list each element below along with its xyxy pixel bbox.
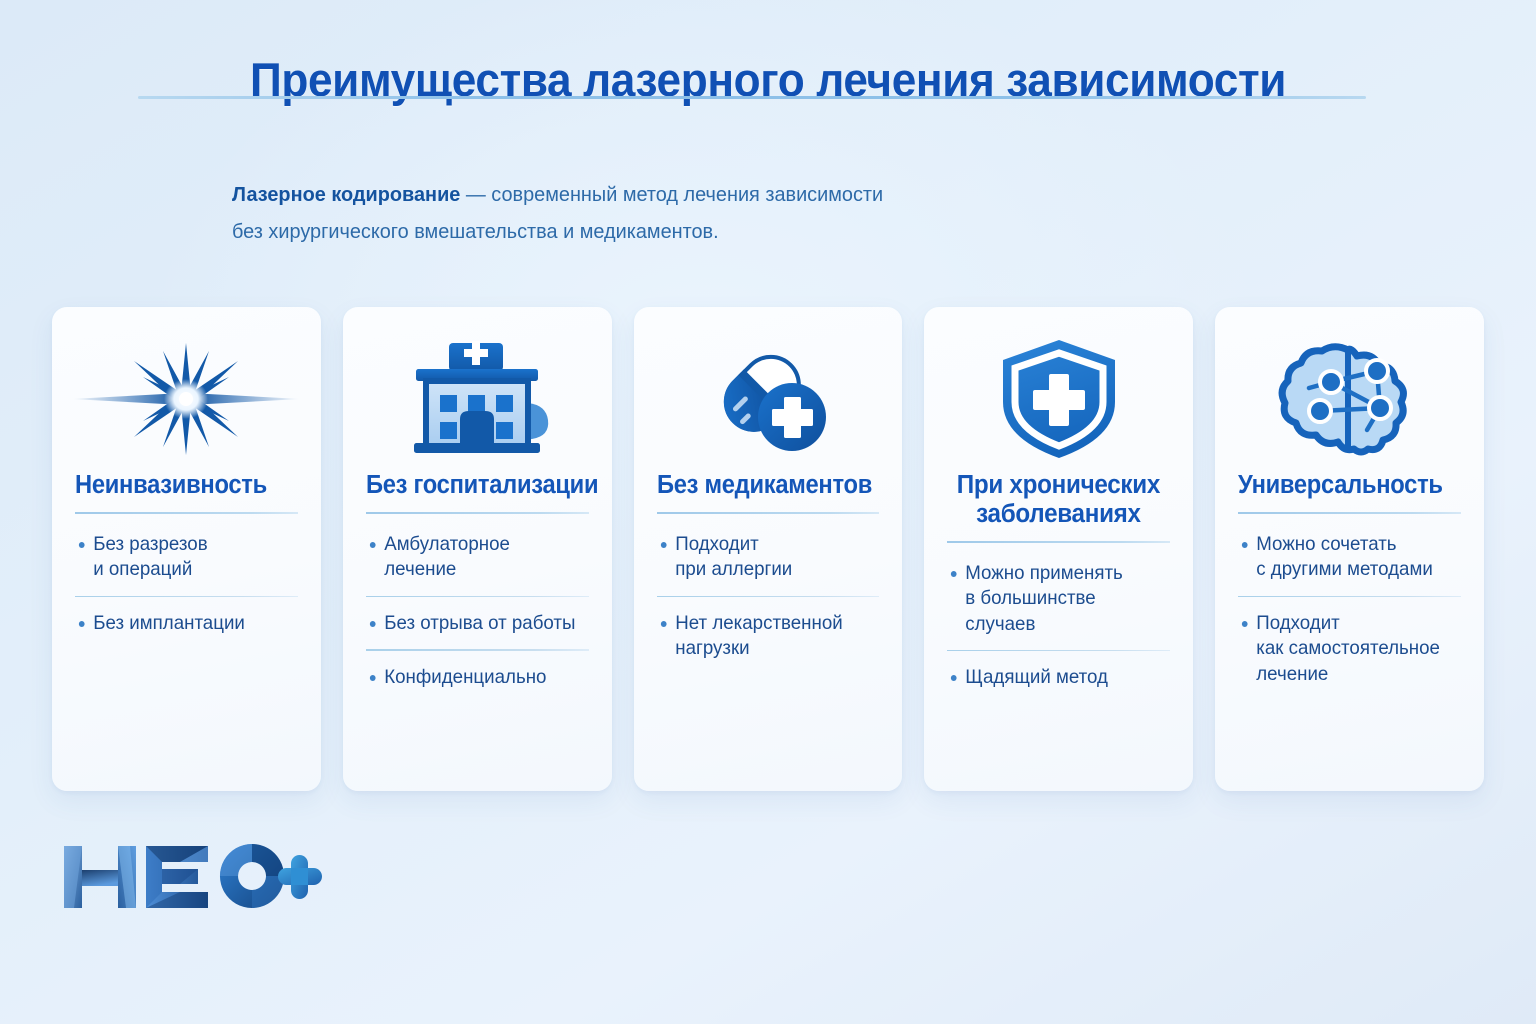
card-title: Без госпитализации xyxy=(366,471,573,500)
bullet-dot xyxy=(1242,542,1248,548)
bullet-dot xyxy=(660,542,666,548)
bullet-text: Без разрезов и операций xyxy=(93,532,207,583)
shield-cross-icon xyxy=(947,337,1170,461)
bullet-text: Можно применять в большинстве случаев xyxy=(966,561,1162,638)
pills-cross-icon xyxy=(657,337,880,461)
bullet-dot xyxy=(370,675,376,681)
bullet-dot xyxy=(1242,621,1248,627)
subtitle-line-1: Лазерное кодирование — современный метод… xyxy=(232,176,1183,213)
list-item: Подходит как самостоятельное лечение xyxy=(1238,596,1461,701)
bullet-text: Без имплантации xyxy=(93,611,245,637)
subtitle-rest: современный метод лечения зависимости xyxy=(491,183,883,206)
list-item: Можно применять в большинстве случаев xyxy=(947,547,1170,651)
bullet-text: Можно сочетать с другими методами xyxy=(1256,532,1433,583)
card-bez-medikamentov[interactable]: Без медикаментов Подходит при аллергии Н… xyxy=(634,307,903,791)
list-item: Подходит при аллергии xyxy=(657,518,880,596)
bullet-dot xyxy=(660,621,666,627)
bullet-dot xyxy=(79,621,85,627)
list-item: Конфиденциально xyxy=(366,649,589,703)
subtitle-dash: — xyxy=(460,183,491,206)
bullet-text: Подходит при аллергии xyxy=(675,532,792,583)
card-title: Без медикаментов xyxy=(657,471,864,500)
bullet-text: Конфиденциально xyxy=(384,665,546,691)
card-bullets: Можно сочетать с другими методами Подход… xyxy=(1238,518,1461,701)
card-title-divider xyxy=(947,541,1170,543)
bullet-dot xyxy=(370,542,376,548)
card-bez-gospitalizacii[interactable]: Без госпитализации Амбулаторное лечение … xyxy=(343,307,612,791)
title-divider xyxy=(138,96,1366,99)
card-title: При хронических заболеваниях xyxy=(953,471,1165,529)
card-bullets: Амбулаторное лечение Без отрыва от работ… xyxy=(366,518,589,704)
bullet-dot xyxy=(951,675,957,681)
subtitle: Лазерное кодирование — современный метод… xyxy=(232,176,1183,250)
hospital-building-icon xyxy=(366,337,589,461)
bullet-text: Щадящий метод xyxy=(966,665,1109,691)
card-bullets: Без разрезов и операций Без имплантации xyxy=(75,518,298,650)
bullet-text: Амбулаторное лечение xyxy=(384,532,510,583)
benefit-cards: Неинвазивность Без разрезов и операций Б… xyxy=(52,307,1484,791)
card-title: Неинвазивность xyxy=(75,471,282,500)
bullet-dot xyxy=(951,571,957,577)
card-title-divider xyxy=(1238,512,1461,514)
card-neinvazivnost[interactable]: Неинвазивность Без разрезов и операций Б… xyxy=(52,307,321,791)
list-item: Без отрыва от работы xyxy=(366,596,589,650)
subtitle-lead: Лазерное кодирование xyxy=(232,183,460,206)
brain-network-icon xyxy=(1238,337,1461,461)
bullet-text: Подходит как самостоятельное лечение xyxy=(1256,611,1440,688)
list-item: Щадящий метод xyxy=(947,650,1170,704)
card-title-divider xyxy=(75,512,298,514)
card-universalnost[interactable]: Универсальность Можно сочетать с другими… xyxy=(1215,307,1484,791)
neo-plus-logo[interactable] xyxy=(60,838,324,916)
list-item: Амбулаторное лечение xyxy=(366,518,589,596)
bullet-text: Нет лекарственной нагрузки xyxy=(675,611,842,662)
card-title-divider xyxy=(657,512,880,514)
bullet-dot xyxy=(370,621,376,627)
subtitle-line-2: без хирургического вмешательства и медик… xyxy=(232,213,1183,250)
list-item: Без разрезов и операций xyxy=(75,518,298,596)
laser-burst-icon xyxy=(75,337,298,461)
infographic-page: Преимущества лазерного лечения зависимос… xyxy=(0,0,1536,1024)
card-bullets: Можно применять в большинстве случаев Ща… xyxy=(947,547,1170,704)
list-item: Нет лекарственной нагрузки xyxy=(657,596,880,675)
card-title: Универсальность xyxy=(1238,471,1445,500)
bullet-text: Без отрыва от работы xyxy=(384,611,575,637)
list-item: Можно сочетать с другими методами xyxy=(1238,518,1461,596)
bullet-dot xyxy=(79,542,85,548)
card-pri-hronicheskih-zabolevaniyah[interactable]: При хронических заболеваниях Можно приме… xyxy=(924,307,1193,791)
card-title-divider xyxy=(366,512,589,514)
card-bullets: Подходит при аллергии Нет лекарственной … xyxy=(657,518,880,675)
list-item: Без имплантации xyxy=(75,596,298,650)
